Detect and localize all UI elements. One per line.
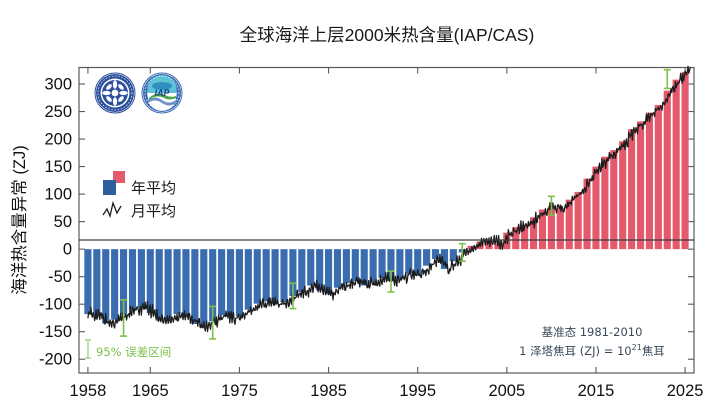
- error-interval-label: 95% 误差区间: [96, 345, 171, 359]
- annual-bar: [272, 249, 279, 304]
- annual-bar: [84, 249, 91, 314]
- annual-bar: [619, 141, 626, 249]
- annual-bar: [646, 113, 653, 250]
- annual-bar: [138, 249, 145, 307]
- annual-bar: [557, 208, 564, 249]
- y-tick-label: 300: [44, 76, 72, 94]
- legend-swatch-negative: [103, 180, 116, 195]
- annual-bar: [307, 249, 314, 285]
- y-tick-label: 200: [44, 131, 72, 149]
- annual-bar: [165, 249, 172, 319]
- annual-bar: [227, 249, 234, 318]
- annual-bar: [182, 249, 189, 317]
- annual-bar: [111, 249, 118, 319]
- y-axis-title: 海洋热含量异常 (ZJ): [10, 145, 29, 294]
- y-tick-label: -100: [39, 296, 72, 314]
- annotation-unit-exponent: 21: [632, 343, 642, 352]
- annual-bar: [102, 249, 109, 323]
- x-tick-label: 1965: [132, 382, 169, 400]
- ocean-heat-content-chart: 全球海洋上层2000米热含量(IAP/CAS) 3002502001501005…: [0, 0, 720, 418]
- annual-bar: [450, 249, 457, 261]
- annual-bar: [200, 249, 207, 326]
- y-tick-label: -200: [39, 351, 72, 369]
- svg-text:IAP: IAP: [154, 88, 170, 98]
- y-tick-label: 0: [63, 241, 72, 259]
- legend-label-annual: 年平均: [131, 179, 176, 197]
- x-tick-label: 2005: [488, 382, 525, 400]
- annual-bar: [263, 249, 270, 301]
- annual-bar: [673, 80, 680, 250]
- annual-bar: [325, 249, 332, 294]
- x-tick-label: 2015: [578, 382, 615, 400]
- y-tick-label: 100: [44, 186, 72, 204]
- x-tick-label: 1958: [70, 382, 107, 400]
- annual-bar: [405, 249, 412, 273]
- annual-bar: [628, 129, 635, 249]
- y-tick-label: -150: [39, 323, 72, 341]
- cas-logo: [95, 73, 135, 113]
- annual-bar: [298, 249, 305, 292]
- annotation-unit-tail: 焦耳: [642, 344, 665, 358]
- annual-bar: [610, 150, 617, 249]
- annual-bar: [93, 249, 100, 316]
- annual-bar: [655, 105, 662, 249]
- annual-bar: [664, 91, 671, 250]
- annual-bar: [218, 249, 225, 315]
- annual-bar: [343, 249, 350, 283]
- annual-bar: [601, 157, 608, 249]
- annual-bar: [245, 249, 252, 310]
- x-tick-label: 1995: [399, 382, 436, 400]
- annotation-unit-main: 1 泽塔焦耳 (ZJ) = 10: [519, 344, 631, 358]
- x-tick-label: 1975: [221, 382, 258, 400]
- y-tick-label: -50: [48, 268, 72, 286]
- annual-bar: [191, 249, 198, 324]
- annual-bar: [280, 249, 287, 302]
- annual-bar: [254, 249, 261, 303]
- annual-bar: [682, 72, 689, 249]
- annual-bar: [352, 249, 359, 281]
- annual-bar: [334, 249, 341, 288]
- annotation-unit: 1 泽塔焦耳 (ZJ) = 1021焦耳: [519, 343, 665, 358]
- y-tick-label: 50: [54, 213, 72, 231]
- annual-bar: [129, 249, 136, 310]
- y-tick-label: 250: [44, 103, 72, 121]
- x-tick-label: 2025: [667, 382, 704, 400]
- annual-bar: [236, 249, 243, 316]
- annual-bar: [173, 249, 180, 314]
- annual-bar: [423, 249, 430, 266]
- chart-canvas: 全球海洋上层2000米热含量(IAP/CAS) 3002502001501005…: [0, 0, 720, 418]
- legend-label-monthly: 月平均: [131, 202, 176, 220]
- y-tick-label: 150: [44, 158, 72, 176]
- x-tick-label: 1985: [310, 382, 347, 400]
- annual-bar: [396, 249, 403, 279]
- chart-title: 全球海洋上层2000米热含量(IAP/CAS): [240, 25, 535, 45]
- annual-bar: [378, 249, 385, 278]
- annotation-baseline: 基准态 1981-2010: [542, 325, 643, 339]
- iap-logo: IAP: [142, 73, 182, 113]
- annual-bar: [637, 121, 644, 249]
